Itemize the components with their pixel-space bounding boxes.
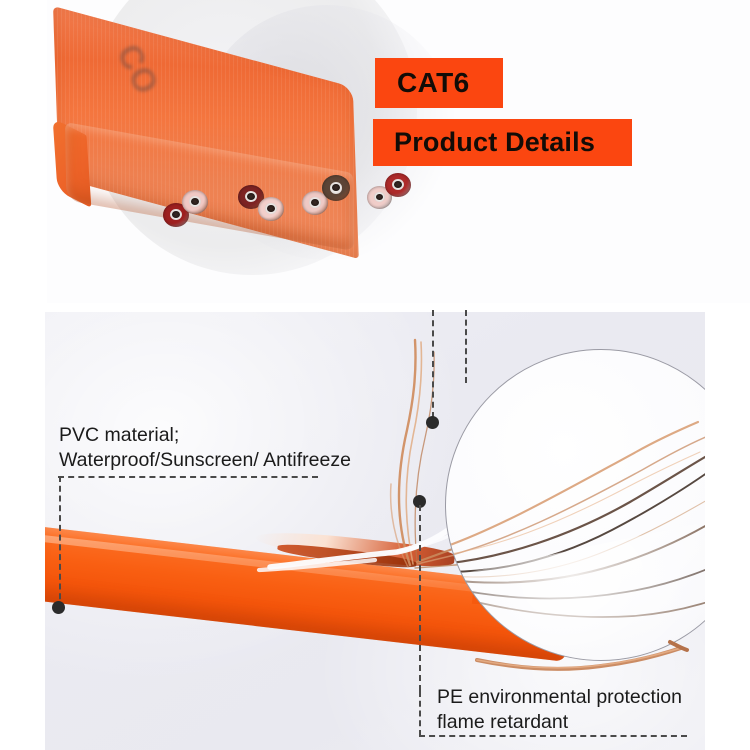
magnifier-glare xyxy=(445,517,705,661)
conductor-core xyxy=(374,192,386,203)
conductor-core xyxy=(245,191,257,202)
callout-strand-vertical-a xyxy=(432,310,434,418)
conductor-core xyxy=(189,196,201,207)
copper-conductor xyxy=(322,175,350,201)
conductor-core xyxy=(309,197,321,208)
callout-pe-underline xyxy=(419,735,687,737)
callout-pe-line-2: flame retardant xyxy=(437,710,682,735)
label-cat6-text: CAT6 xyxy=(397,67,470,99)
conductor-core xyxy=(392,179,404,190)
conductor-core xyxy=(170,209,182,220)
copper-conductor xyxy=(258,197,284,221)
callout-pe-vertical-lower xyxy=(419,691,421,736)
conductor-core xyxy=(265,203,277,214)
callout-pvc-line-2: Waterproof/Sunscreen/ Antifreeze xyxy=(59,448,351,473)
magnifier-circle xyxy=(445,349,705,661)
copper-conductor xyxy=(385,173,411,197)
label-cat6: CAT6 xyxy=(375,58,503,108)
copper-conductor xyxy=(182,190,208,214)
callout-pe-vertical xyxy=(419,505,421,691)
callout-pvc-vertical xyxy=(59,476,61,609)
flat-cable-top-view: CO xyxy=(47,0,407,260)
callout-magnifier-leader xyxy=(465,310,467,383)
callout-pe-line-1: PE environmental protection xyxy=(437,685,682,710)
callout-pvc-dot xyxy=(52,601,65,614)
label-product-details: Product Details xyxy=(373,119,632,166)
callout-pvc-text: PVC material; Waterproof/Sunscreen/ Anti… xyxy=(59,423,351,473)
callout-pvc-underline xyxy=(58,476,318,478)
callout-pvc-line-1: PVC material; xyxy=(59,423,351,448)
conductor-core xyxy=(330,182,343,194)
callout-pe-text: PE environmental protection flame retard… xyxy=(437,685,682,735)
label-product-details-text: Product Details xyxy=(394,127,595,158)
product-detail-page: CO CAT6 Product Details xyxy=(0,0,750,750)
callout-strand-dot xyxy=(426,416,439,429)
